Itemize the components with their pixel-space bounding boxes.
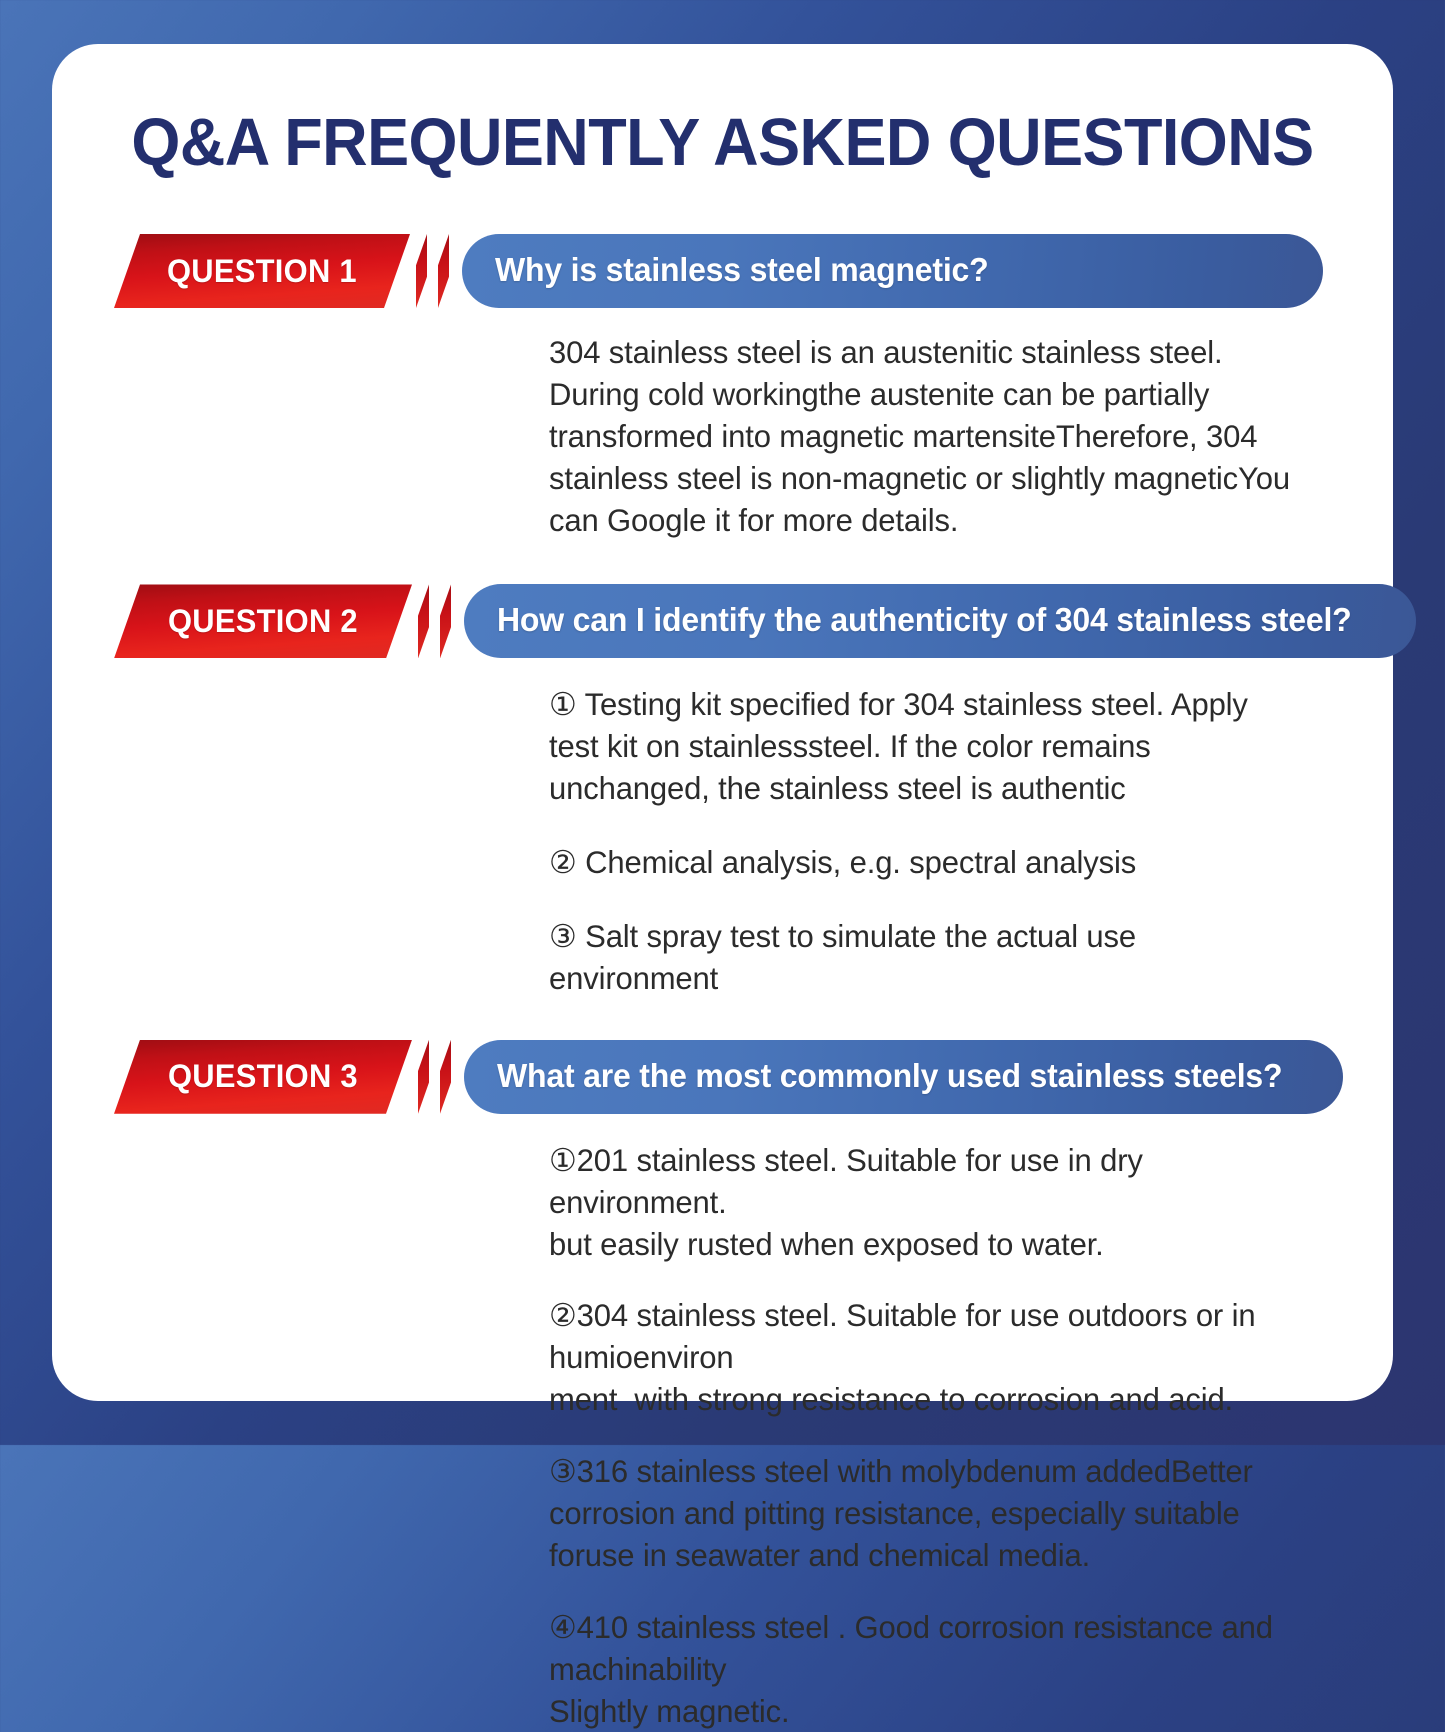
answer-paragraph: 304 stainless steel is an austenitic sta… [549, 332, 1304, 541]
question-header-1: QUESTION 1 Why is stainless steel magnet… [114, 234, 1393, 308]
question-header-2: QUESTION 2 How can I identify the authen… [114, 584, 1393, 658]
answer-paragraph: ③316 stainless steel with molybdenum add… [549, 1451, 1304, 1577]
faq-item-2: QUESTION 2 How can I identify the authen… [52, 584, 1393, 999]
question-number-label: QUESTION 3 [168, 1058, 358, 1095]
answer-body-2: ① Testing kit specified for 304 stainles… [549, 658, 1315, 999]
slash-separator-icon [418, 1040, 460, 1114]
question-header-3: QUESTION 3 What are the most commonly us… [114, 1040, 1393, 1114]
answer-paragraph: ①201 stainless steel. Suitable for use i… [549, 1140, 1304, 1266]
answer-paragraph: ②304 stainless steel. Suitable for use o… [549, 1295, 1304, 1421]
faq-item-3: QUESTION 3 What are the most commonly us… [52, 1040, 1393, 1732]
answer-body-3: ①201 stainless steel. Suitable for use i… [549, 1114, 1315, 1732]
answer-paragraph: ③ Salt spray test to simulate the actual… [549, 916, 1304, 1000]
question-title: What are the most commonly used stainles… [497, 1058, 1282, 1096]
faq-item-1: QUESTION 1 Why is stainless steel magnet… [52, 234, 1393, 541]
question-number-label: QUESTION 2 [168, 603, 358, 640]
question-title: Why is stainless steel magnetic? [495, 252, 989, 290]
slash-separator-icon [418, 584, 460, 658]
question-number-tag-2: QUESTION 2 [114, 584, 412, 658]
page-title: Q&A FREQUENTLY ASKED QUESTIONS [92, 104, 1353, 181]
question-title: How can I identify the authenticity of 3… [497, 602, 1352, 640]
faq-list: QUESTION 1 Why is stainless steel magnet… [52, 234, 1393, 1732]
question-pill-1: Why is stainless steel magnetic? [462, 234, 1323, 308]
question-number-label: QUESTION 1 [167, 253, 357, 290]
question-pill-3: What are the most commonly used stainles… [464, 1040, 1343, 1114]
answer-body-1: 304 stainless steel is an austenitic sta… [549, 308, 1315, 541]
answer-paragraph: ④410 stainless steel . Good corrosion re… [549, 1607, 1304, 1732]
question-number-tag-1: QUESTION 1 [114, 234, 410, 308]
answer-paragraph: ① Testing kit specified for 304 stainles… [549, 684, 1304, 810]
faq-card: Q&A FREQUENTLY ASKED QUESTIONS QUESTION … [52, 44, 1393, 1401]
slash-separator-icon [416, 234, 458, 308]
question-number-tag-3: QUESTION 3 [114, 1040, 412, 1114]
answer-paragraph: ② Chemical analysis, e.g. spectral analy… [549, 842, 1304, 884]
question-pill-2: How can I identify the authenticity of 3… [464, 584, 1416, 658]
